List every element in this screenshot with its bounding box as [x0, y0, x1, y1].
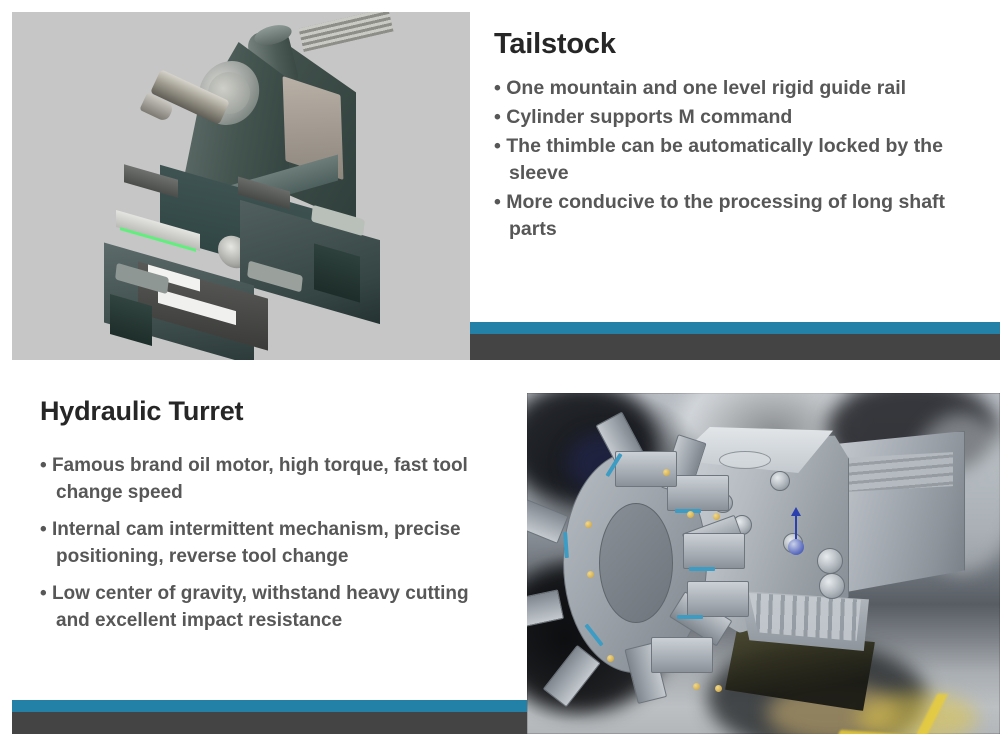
bottom-accent-bar	[12, 700, 527, 712]
hydraulic-turret-bullet-list: • Famous brand oil motor, high torque, f…	[40, 453, 495, 635]
list-item: • Internal cam intermittent mechanism, p…	[40, 517, 495, 571]
list-item-label: The thimble can be automatically locked …	[506, 135, 943, 184]
hydraulic-turret-product-image	[527, 393, 1000, 734]
tailstock-bullet-list: • One mountain and one level rigid guide…	[494, 75, 974, 242]
tailstock-rods	[298, 12, 393, 52]
list-item-label: Low center of gravity, withstand heavy c…	[52, 583, 469, 631]
turret-top-bore	[719, 451, 771, 469]
turret-fastener	[715, 685, 722, 692]
turret-blue-accent	[689, 567, 715, 571]
turret-motor-ribs	[845, 452, 953, 492]
turret-blue-accent	[677, 615, 703, 619]
bullet-glyph: •	[494, 77, 501, 99]
tailstock-product-image	[12, 12, 470, 360]
turret-fastener	[607, 655, 614, 662]
list-item: • One mountain and one level rigid guide…	[494, 75, 974, 102]
bullet-glyph: •	[494, 191, 501, 213]
turret-tool-holder	[651, 637, 713, 673]
turret-bore	[770, 471, 790, 491]
turret-tool-holder	[687, 581, 749, 617]
hydraulic-turret-text-block: Hydraulic Turret • Famous brand oil moto…	[40, 396, 495, 645]
list-item: • The thimble can be automatically locke…	[494, 133, 974, 187]
top-dark-bar	[470, 334, 1000, 360]
turret-fastener	[587, 571, 594, 578]
list-item-label: More conducive to the processing of long…	[506, 191, 945, 240]
turret-fastener	[663, 469, 670, 476]
turret-fastener	[585, 521, 592, 528]
slide-canvas: Tailstock • One mountain and one level r…	[0, 0, 1000, 734]
tailstock-title: Tailstock	[494, 28, 974, 61]
list-item-label: Famous brand oil motor, high torque, fas…	[52, 455, 468, 503]
bullet-glyph: •	[494, 106, 501, 128]
list-item: • Low center of gravity, withstand heavy…	[40, 581, 495, 635]
list-item: • Cylinder supports M command	[494, 104, 974, 131]
bullet-glyph: •	[40, 519, 47, 540]
bullet-glyph: •	[40, 455, 47, 476]
top-accent-bar	[470, 322, 1000, 334]
turret-bore	[819, 573, 845, 599]
bullet-glyph: •	[40, 583, 47, 604]
list-item-label: One mountain and one level rigid guide r…	[506, 77, 906, 99]
list-item: • More conducive to the processing of lo…	[494, 189, 974, 243]
bullet-glyph: •	[494, 135, 501, 157]
turret-axis-arrowhead	[791, 507, 801, 516]
turret-fastener	[713, 513, 720, 520]
tailstock-text-block: Tailstock • One mountain and one level r…	[494, 28, 974, 245]
bottom-dark-bar	[12, 712, 527, 734]
turret-fastener	[687, 511, 694, 518]
turret-bore	[817, 548, 843, 574]
turret-disc-hub	[599, 503, 673, 623]
list-item-label: Internal cam intermittent mechanism, pre…	[52, 519, 461, 567]
list-item: • Famous brand oil motor, high torque, f…	[40, 453, 495, 507]
list-item-label: Cylinder supports M command	[506, 106, 792, 128]
turret-tool-holder	[683, 533, 745, 569]
turret-fastener	[693, 683, 700, 690]
hydraulic-turret-title: Hydraulic Turret	[40, 396, 495, 427]
turret-axis-origin	[788, 539, 804, 555]
